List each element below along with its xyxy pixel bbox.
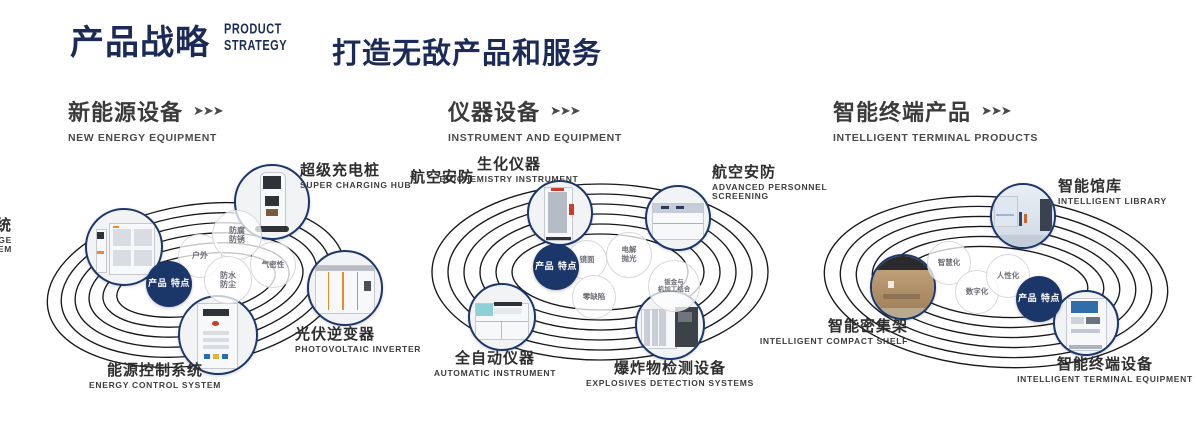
feature-line: 防腐 — [229, 226, 245, 235]
cluster-intelligent-terminal: 智能馆库 INTELLIGENT LIBRARY 智能密集架 INTELLIGE… — [800, 150, 1200, 420]
feature-line: 数字化 — [966, 288, 989, 297]
screening-machine-icon — [647, 187, 709, 249]
self-service-kiosk-icon — [1055, 292, 1117, 354]
label-energy-control-system: 能源控制系统 ENERGY CONTROL SYSTEM — [55, 362, 255, 390]
biochemistry-scanner-icon — [529, 182, 591, 244]
label-cn: 能源控制系统 — [55, 362, 255, 379]
section-title-en: NEW ENERGY EQUIPMENT — [68, 132, 223, 144]
section-title-en: INSTRUMENT AND EQUIPMENT — [448, 132, 622, 144]
label-cn: 储能系统 — [0, 217, 12, 234]
label-en: EXPLOSIVES DETECTION SYSTEMS — [570, 379, 770, 389]
page-title-en-line1: PRODUCT — [224, 23, 287, 39]
label-cn: 智能终端设备 — [1005, 356, 1200, 373]
cluster-instrument: 生化仪器 BIOCHEMISTRY INSTRUMENT 航空安防 航空安防 A… — [400, 150, 800, 420]
chevron-triple-icon: ➤➤➤ — [193, 103, 223, 119]
product-strategy-infographic: 产品战略 PRODUCT STRATEGY 打造无敌产品和服务 新能源设备 ➤➤… — [0, 0, 1200, 422]
feature-line: 机加工结合 — [658, 286, 691, 293]
label-cn: 全自动仪器 — [395, 350, 595, 367]
section-title-intelligent-terminal: 智能终端产品 ➤➤➤ INTELLIGENT TERMINAL PRODUCTS — [833, 95, 1038, 144]
chevron-triple-icon: ➤➤➤ — [550, 103, 580, 119]
page-title-en-line2: STRATEGY — [224, 38, 287, 54]
page-subtitle: 打造无敌产品和服务 — [332, 30, 602, 72]
core-bubble-product-features: 产品 特点 — [1016, 276, 1062, 322]
label-intelligent-terminal-equipment: 智能终端设备 INTELLIGENT TERMINAL EQUIPMENT — [1005, 356, 1200, 384]
feature-bubble-sheetmetal-machining: 钣金与 机加工结合 — [648, 260, 700, 312]
label-en: ENERGY CONTROL SYSTEM — [55, 381, 255, 391]
section-title-cn: 智能终端产品 — [833, 95, 971, 127]
node-biochemistry-instrument[interactable] — [527, 180, 593, 246]
node-intelligent-terminal-equipment[interactable] — [1053, 290, 1119, 356]
core-line2: 特点 — [1041, 294, 1060, 304]
label-intelligent-compact-shelf: 智能密集架 INTELLIGENT COMPACT SHELF — [728, 318, 908, 346]
feature-line: 防锈 — [229, 235, 245, 244]
feature-bubble-airtightness: 气密性 — [250, 242, 296, 288]
label-cn: 智能密集架 — [728, 318, 908, 335]
core-line1: 产品 — [1018, 294, 1037, 304]
feature-bubble-zero-defect: 零缺陷 — [572, 275, 616, 319]
feature-line: 户外 — [192, 251, 208, 260]
feature-bubble-waterproof: 防水 防尘 — [204, 256, 252, 304]
core-line1: 产品 — [148, 279, 167, 289]
feature-line: 气密性 — [262, 261, 285, 270]
page-title-cn: 产品战略 — [70, 26, 210, 60]
node-automatic-instrument[interactable] — [468, 283, 536, 351]
cluster-new-energy: 储能系统 ENERGY STORAGE SYSTEM 超级充电桩 SUPER C… — [0, 150, 400, 420]
feature-line: 智慧化 — [938, 259, 961, 268]
label-en: ENERGY STORAGE SYSTEM — [0, 236, 12, 255]
automatic-analyzer-icon — [470, 285, 534, 349]
feature-line: 零缺陷 — [583, 293, 606, 302]
feature-line: 防尘 — [220, 280, 236, 289]
chevron-triple-icon: ➤➤➤ — [981, 103, 1011, 119]
feature-line: 防水 — [220, 271, 236, 280]
label-cn: 航空安防 — [410, 169, 500, 186]
page-header: 产品战略 PRODUCT STRATEGY — [70, 26, 287, 60]
feature-line: 人性化 — [997, 272, 1020, 281]
label-en: INTELLIGENT LIBRARY — [1058, 197, 1200, 207]
section-title-en: INTELLIGENT TERMINAL PRODUCTS — [833, 132, 1038, 144]
feature-line: 镜面 — [580, 256, 595, 265]
label-en: INTELLIGENT COMPACT SHELF — [728, 337, 908, 347]
label-cn: 爆炸物检测设备 — [570, 360, 770, 377]
library-room-icon — [992, 185, 1054, 247]
page-title-en: PRODUCT STRATEGY — [224, 23, 287, 54]
section-title-cn: 仪器设备 — [448, 95, 540, 127]
core-bubble-product-features: 产品 特点 — [533, 244, 579, 290]
pv-inverter-cabinet-icon — [309, 252, 381, 324]
feature-bubble-electropolishing: 电解 抛光 — [606, 232, 652, 278]
section-title-cn: 新能源设备 — [68, 95, 183, 127]
section-title-new-energy: 新能源设备 ➤➤➤ NEW ENERGY EQUIPMENT — [68, 95, 223, 144]
label-cn: 智能馆库 — [1058, 178, 1200, 195]
label-en: INTELLIGENT TERMINAL EQUIPMENT — [1005, 375, 1200, 385]
node-intelligent-library[interactable] — [990, 183, 1056, 249]
core-bubble-product-features: 产品 特点 — [146, 261, 192, 307]
label-aviation-security: 航空安防 — [410, 169, 500, 186]
core-line1: 产品 — [535, 262, 554, 272]
core-line2: 特点 — [558, 262, 577, 272]
section-title-instrument: 仪器设备 ➤➤➤ INSTRUMENT AND EQUIPMENT — [448, 95, 622, 144]
node-photovoltaic-inverter[interactable] — [307, 250, 383, 326]
core-line2: 特点 — [171, 279, 190, 289]
label-explosives-detection-system: 爆炸物检测设备 EXPLOSIVES DETECTION SYSTEMS — [570, 360, 770, 388]
compact-shelf-icon — [872, 256, 934, 318]
label-energy-storage-system: 储能系统 ENERGY STORAGE SYSTEM — [0, 217, 12, 255]
feature-line: 抛光 — [622, 255, 637, 264]
node-advanced-personnel-screening[interactable] — [645, 185, 711, 251]
label-en: AUTOMATIC INSTRUMENT — [395, 369, 595, 379]
label-intelligent-library: 智能馆库 INTELLIGENT LIBRARY — [1058, 178, 1200, 206]
label-automatic-instrument: 全自动仪器 AUTOMATIC INSTRUMENT — [395, 350, 595, 378]
